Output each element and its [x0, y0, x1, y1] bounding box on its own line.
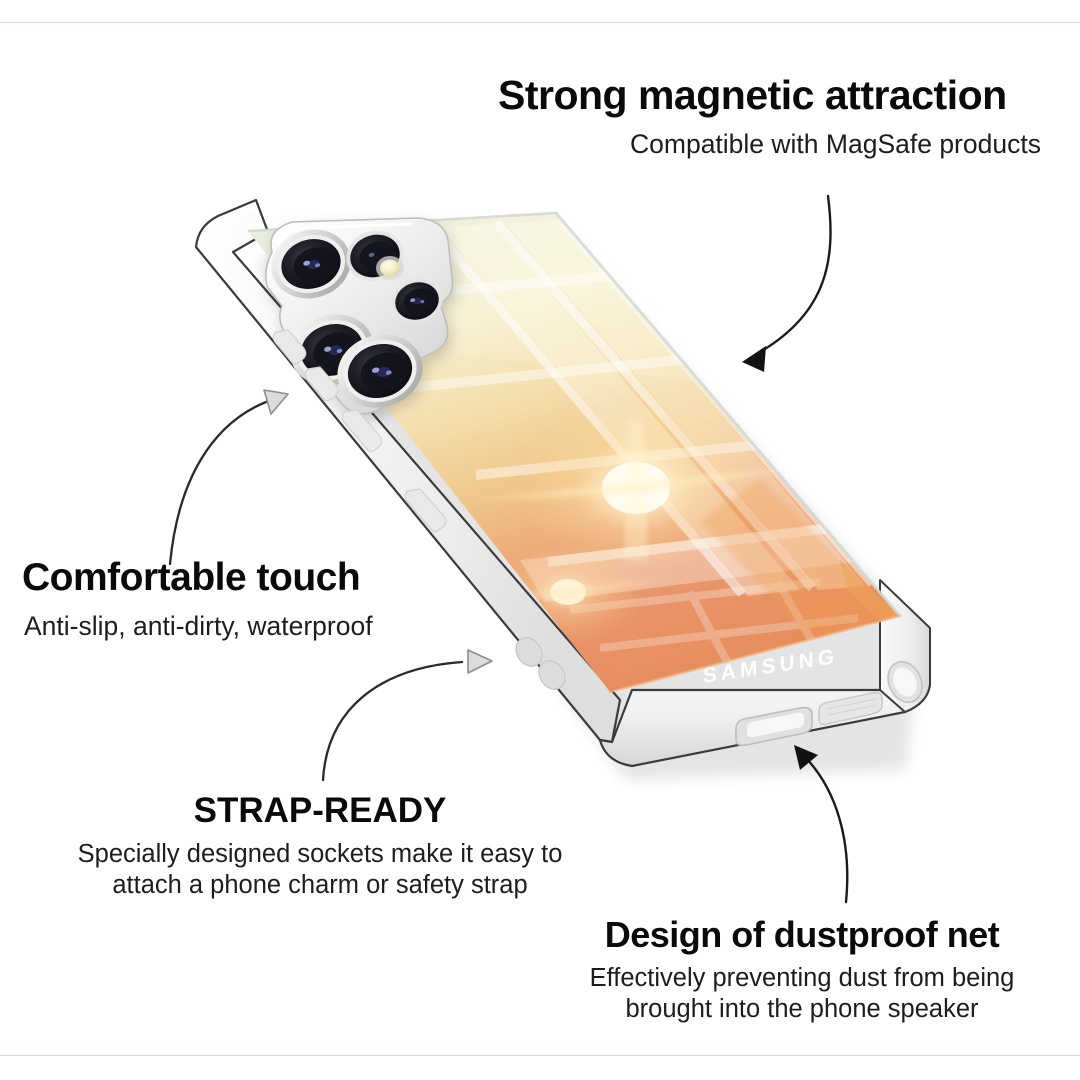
callout-touch-subtitle: Anti-slip, anti-dirty, waterproof [24, 610, 373, 642]
callout-dust-subtitle-line1: Effectively preventing dust from being [552, 963, 1052, 994]
callout-dust-title: Design of dustproof net [552, 916, 1052, 954]
callout-magnetic: Strong magnetic attraction Compatible wi… [498, 74, 1041, 160]
callout-strap-subtitle-line2: attach a phone charm or safety strap [70, 870, 570, 901]
callout-magnetic-title: Strong magnetic attraction [498, 74, 1041, 117]
callout-strap-ready: STRAP-READY Specially designed sockets m… [70, 793, 570, 901]
callout-comfortable-touch: Comfortable touch Anti-slip, anti-dirty,… [22, 558, 373, 642]
infographic-canvas: SAMSUNG Strong magnetic attraction Compa… [0, 0, 1080, 1080]
callout-magnetic-subtitle: Compatible with MagSafe products [630, 128, 1041, 160]
callout-dust-subtitle-line2: brought into the phone speaker [552, 994, 1052, 1025]
callout-dustproof-net: Design of dustproof net Effectively prev… [552, 916, 1052, 1025]
camera-flash-icon [376, 256, 404, 280]
callout-strap-title: STRAP-READY [70, 793, 570, 830]
callout-touch-title: Comfortable touch [22, 558, 373, 599]
callout-strap-subtitle-line1: Specially designed sockets make it easy … [70, 839, 570, 870]
